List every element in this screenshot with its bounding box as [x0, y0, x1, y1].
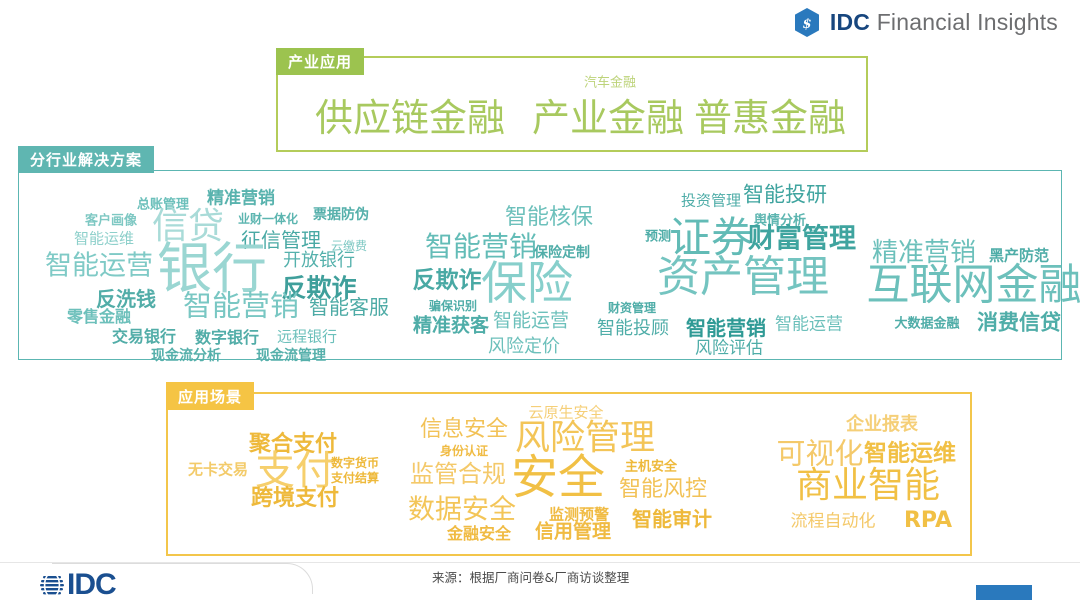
industry-solutions-word: 预测 — [645, 231, 671, 244]
word-cloud-industry-application: 供应链金融产业金融汽车金融普惠金融 — [278, 58, 866, 150]
slide-canvas: $ IDC Financial Insights 产业应用 供应链金融产业金融汽… — [0, 0, 1080, 608]
industry-solutions-word: 精准营销 — [207, 191, 275, 208]
section-industry-application: 供应链金融产业金融汽车金融普惠金融 — [276, 56, 868, 152]
industry-solutions-word: 反洗钱 — [96, 289, 156, 309]
industry-solutions-word: 智能营销 — [183, 292, 299, 321]
industry-solutions-word: 风险定价 — [488, 338, 560, 356]
industry-solutions-word: 反欺诈 — [413, 270, 482, 293]
industry-solutions-word: 智能投顾 — [597, 320, 669, 338]
industry-solutions-word: 投资管理 — [681, 194, 741, 209]
industry-solutions-word: 业财一体化 — [238, 213, 298, 225]
industry-solutions-word: 开放银行 — [283, 252, 355, 270]
industry-solutions-word: 精准获客 — [413, 317, 489, 336]
application-scenarios-word: 智能风控 — [619, 479, 707, 501]
source-note: 来源：根据厂商问卷&厂商访谈整理 — [432, 567, 629, 586]
industry-solutions-word: 智能营销 — [686, 318, 766, 338]
industry-solutions-word: 资产管理 — [657, 257, 829, 300]
industry-solutions-word: 远程银行 — [277, 330, 337, 345]
industry-solutions-word: 智能运营 — [45, 253, 153, 280]
industry-solutions-word: 智能运营 — [493, 312, 569, 331]
brand-title: IDC Financial Insights — [830, 9, 1058, 36]
industry-solutions-word: 智能客服 — [309, 297, 389, 317]
brand-header: $ IDC Financial Insights — [794, 8, 1058, 37]
industry-solutions-word: 智能运营 — [775, 317, 843, 334]
application-scenarios-word: 商业智能 — [796, 468, 940, 504]
industry-application-word: 产业金融 — [532, 99, 684, 137]
industry-solutions-word: 互联网金融 — [867, 265, 1080, 308]
application-scenarios-word: 支付结算 — [331, 472, 379, 484]
brand-title-idc: IDC — [830, 9, 870, 35]
industry-solutions-word: 消费信贷 — [977, 313, 1061, 334]
section-industry-solutions: 总账管理精准营销客户画像信贷业财一体化票据防伪智能运维征信管理云缴费智能运营银行… — [18, 170, 1062, 360]
slide-footer: IDC 来源：根据厂商问卷&厂商访谈整理 — [0, 562, 1080, 608]
industry-solutions-word: 骗保识别 — [429, 300, 477, 312]
industry-solutions-word: 交易银行 — [112, 329, 176, 345]
application-scenarios-word: 数据安全 — [408, 497, 516, 524]
application-scenarios-word: RPA — [904, 510, 952, 532]
svg-text:$: $ — [802, 17, 811, 32]
application-scenarios-word: 信息安全 — [420, 419, 508, 441]
idc-hex-logo-icon: $ — [794, 8, 820, 37]
industry-solutions-word: 保险 — [481, 260, 573, 306]
application-scenarios-word: 监管合规 — [410, 462, 506, 486]
industry-solutions-word: 大数据金融 — [894, 318, 959, 331]
application-scenarios-word: 身份认证 — [440, 445, 488, 457]
application-scenarios-word: 支付 — [255, 451, 335, 491]
section-tag-application-scenarios: 应用场景 — [166, 382, 254, 410]
word-cloud-industry-solutions: 总账管理精准营销客户画像信贷业财一体化票据防伪智能运维征信管理云缴费智能运营银行… — [19, 171, 1061, 359]
footer-idc-wordmark: IDC — [67, 570, 116, 600]
brand-title-financial-insights: Financial Insights — [877, 9, 1058, 35]
application-scenarios-word: 主机安全 — [625, 461, 677, 474]
industry-solutions-word: 智能投研 — [743, 185, 827, 206]
industry-solutions-word: 现金流分析 — [151, 349, 221, 363]
industry-solutions-word: 票据防伪 — [313, 208, 369, 222]
industry-solutions-word: 客户画像 — [85, 215, 137, 228]
industry-solutions-word: 财富管理 — [748, 226, 856, 253]
industry-solutions-word: 数字银行 — [195, 330, 259, 346]
industry-application-word: 供应链金融 — [315, 99, 505, 137]
section-tag-industry-solutions: 分行业解决方案 — [18, 146, 154, 173]
word-cloud-application-scenarios: 聚合支付无卡交易支付数字货币支付结算跨境支付云原生安全信息安全身份认证风险管理监… — [168, 394, 970, 554]
application-scenarios-word: 信用管理 — [535, 523, 611, 542]
application-scenarios-word: 智能审计 — [632, 509, 712, 529]
section-application-scenarios: 聚合支付无卡交易支付数字货币支付结算跨境支付云原生安全信息安全身份认证风险管理监… — [166, 392, 972, 556]
application-scenarios-word: 无卡交易 — [188, 463, 248, 478]
industry-application-word: 汽车金融 — [584, 77, 636, 90]
application-scenarios-word: 企业报表 — [846, 416, 918, 434]
idc-globe-logo-icon — [40, 572, 64, 598]
application-scenarios-word: 金融安全 — [447, 526, 511, 542]
industry-solutions-word: 智能运维 — [74, 232, 134, 247]
application-scenarios-word: 数字货币 — [331, 457, 379, 469]
industry-solutions-word: 智能核保 — [505, 207, 593, 229]
footer-idc-logo: IDC — [40, 570, 116, 600]
industry-solutions-word: 现金流管理 — [256, 349, 326, 363]
application-scenarios-word: 智能运维 — [864, 443, 956, 466]
corner-accent-block — [976, 585, 1032, 600]
application-scenarios-word: 跨境支付 — [251, 488, 339, 510]
application-scenarios-word: 安全 — [511, 455, 605, 502]
section-tag-industry-application: 产业应用 — [276, 48, 364, 75]
industry-solutions-word: 财资管理 — [608, 302, 656, 314]
industry-application-word: 普惠金融 — [694, 99, 846, 137]
industry-solutions-word: 风险评估 — [695, 341, 763, 358]
application-scenarios-word: 流程自动化 — [791, 514, 876, 531]
industry-solutions-word: 零售金融 — [67, 309, 131, 325]
